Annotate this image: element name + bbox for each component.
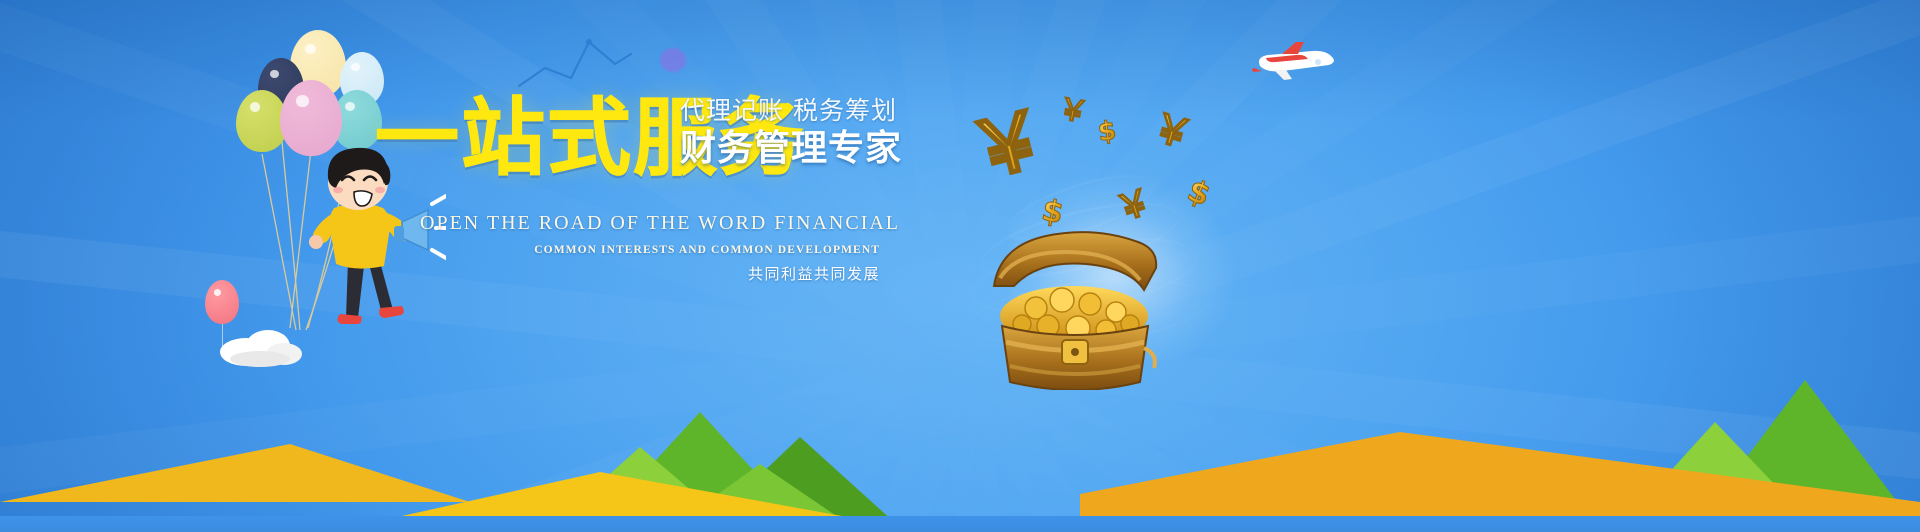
coin-yen-small-1: ￥ xyxy=(1055,91,1091,131)
airplane-icon xyxy=(1252,36,1342,86)
subtitle-english-secondary: COMMON INTERESTS AND COMMON DEVELOPMENT xyxy=(420,244,880,256)
small-red-balloon xyxy=(205,280,239,324)
coin-yen-small-3: ￥ xyxy=(1111,181,1158,231)
svg-text:￥: ￥ xyxy=(1146,104,1197,159)
svg-text:$: $ xyxy=(1096,116,1118,148)
svg-text:￥: ￥ xyxy=(1055,91,1091,131)
subtitle-chinese: 共同利益共同发展 xyxy=(420,263,880,284)
coin-dollar-1: $ xyxy=(1096,116,1118,148)
purple-blob-decoration xyxy=(660,48,686,72)
water-strip xyxy=(0,516,1920,532)
ground-landscape xyxy=(0,332,1920,532)
svg-text:$: $ xyxy=(1182,173,1214,213)
promo-banner: 一站式服务 代理记账 税务筹划 财务管理专家 OPEN THE ROAD OF … xyxy=(0,0,1920,532)
svg-text:￥: ￥ xyxy=(960,93,1057,199)
chart-zigzag-icon xyxy=(515,34,635,94)
dune-left xyxy=(0,444,470,502)
subtitle-block: OPEN THE ROAD OF THE WORD FINANCIAL COMM… xyxy=(420,212,880,284)
coin-dollar-3: $ xyxy=(1182,173,1214,213)
coin-yen-small-2: ￥ xyxy=(1146,104,1197,159)
coin-yen-large: ￥ xyxy=(960,93,1057,199)
subtitle-english-main: OPEN THE ROAD OF THE WORD FINANCIAL xyxy=(420,212,880,235)
svg-text:￥: ￥ xyxy=(1111,181,1158,231)
